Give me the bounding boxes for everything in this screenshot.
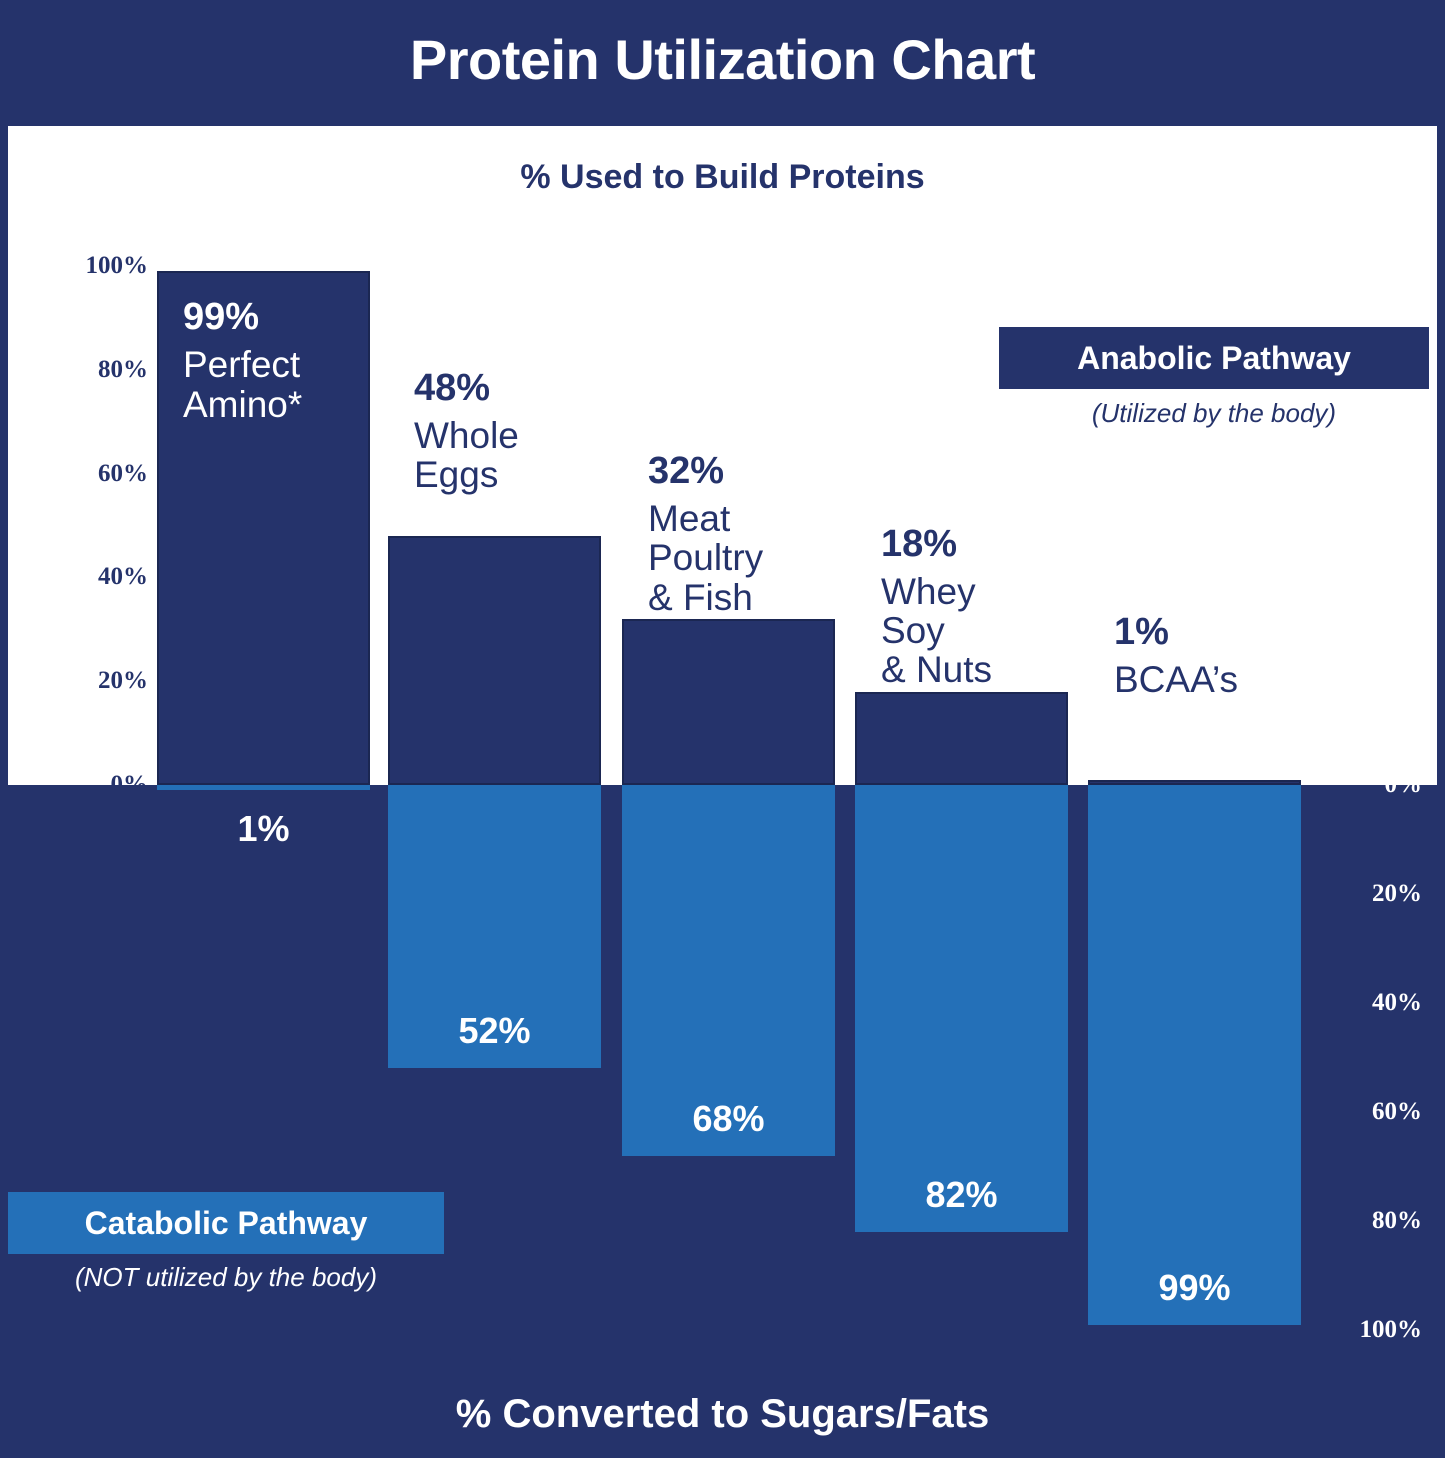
- axis-left-tick: 80%: [28, 356, 148, 384]
- lower-axis-title: % Converted to Sugars/Fats: [456, 1392, 989, 1437]
- axis-right-tick: 0%: [1312, 771, 1422, 799]
- page-title: Protein Utilization Chart: [410, 32, 1035, 88]
- chart-canvas: Protein Utilization Chart % Used to Buil…: [0, 0, 1445, 1458]
- anabolic-pathway-badge: Anabolic Pathway: [999, 327, 1429, 389]
- anabolic-pathway-note: (Utilized by the body): [999, 398, 1429, 429]
- catabolic-pathway-badge: Catabolic Pathway: [8, 1192, 444, 1254]
- axis-right-tick: 40%: [1312, 989, 1422, 1017]
- axis-right: 0%20%40%60%80%100%: [1312, 785, 1437, 1371]
- axis-left-tick: 100%: [28, 252, 148, 280]
- chart-footer: % Converted to Sugars/Fats: [0, 1371, 1445, 1458]
- axis-left: 100%80%60%40%20%0%: [8, 126, 148, 785]
- axis-right-tick: 20%: [1312, 880, 1422, 908]
- upper-plot-panel: % Used to Build Proteins 100%80%60%40%20…: [8, 126, 1437, 785]
- catabolic-pathway-note: (NOT utilized by the body): [8, 1262, 444, 1293]
- axis-right-tick: 100%: [1312, 1316, 1422, 1344]
- axis-right-tick: 80%: [1312, 1207, 1422, 1235]
- chart-header: Protein Utilization Chart: [0, 0, 1445, 120]
- axis-right-tick: 60%: [1312, 1098, 1422, 1126]
- axis-left-tick: 20%: [28, 667, 148, 695]
- catabolic-pathway-label: Catabolic Pathway: [85, 1205, 368, 1242]
- anabolic-pathway-label: Anabolic Pathway: [1077, 340, 1351, 377]
- axis-left-tick: 40%: [28, 563, 148, 591]
- upper-axis-title: % Used to Build Proteins: [8, 158, 1437, 197]
- axis-left-tick: 60%: [28, 460, 148, 488]
